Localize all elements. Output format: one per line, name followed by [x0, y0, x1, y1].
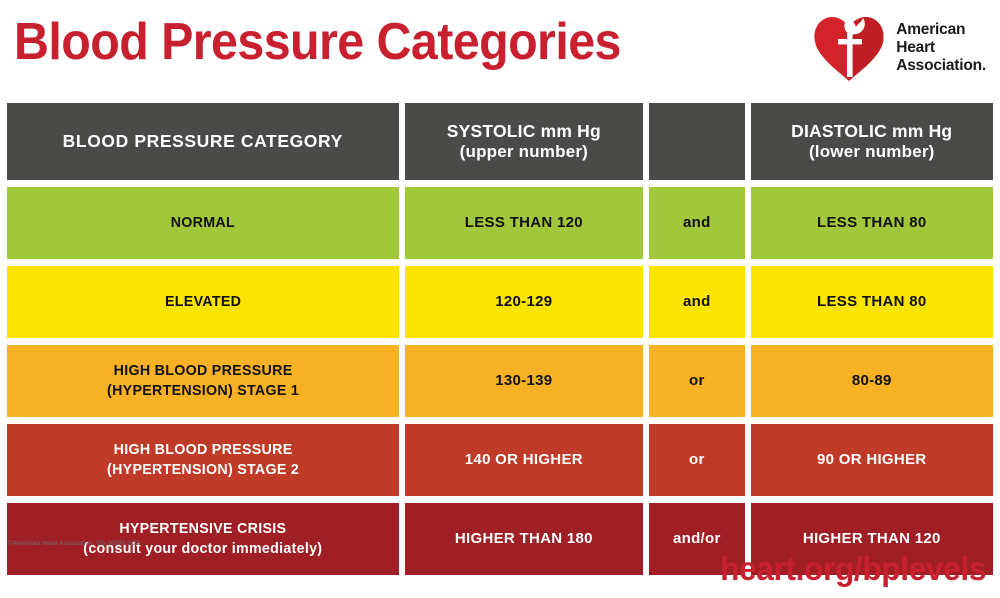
logo-wordmark-line-3: Association. — [896, 57, 986, 75]
category-cell-stage-2: HIGH BLOOD PRESSURE (HYPERTENSION) STAGE… — [7, 424, 399, 496]
column-header-systolic-label: SYSTOLIC mm Hg — [447, 121, 601, 142]
category-line-2: (HYPERTENSION) STAGE 1 — [107, 381, 299, 401]
column-header-systolic-sublabel: (upper number) — [447, 142, 601, 162]
category-line-1: NORMAL — [171, 214, 235, 232]
table-row-elevated: ELEVATED 120-129 and LESS THAN 80 — [7, 266, 993, 338]
table-row-normal: NORMAL LESS THAN 120 and LESS THAN 80 — [7, 187, 993, 259]
column-header-diastolic-label: DIASTOLIC mm Hg — [791, 121, 952, 142]
category-cell-crisis: HYPERTENSIVE CRISIS (consult your doctor… — [7, 503, 399, 575]
category-line-2: (HYPERTENSION) STAGE 2 — [107, 460, 299, 480]
category-line-1: HIGH BLOOD PRESSURE — [107, 361, 299, 381]
table-row-stage-1: HIGH BLOOD PRESSURE (HYPERTENSION) STAGE… — [7, 345, 993, 417]
category-cell-normal: NORMAL — [7, 187, 399, 259]
category-line-1: HYPERTENSIVE CRISIS — [83, 519, 322, 539]
american-heart-association-logo: American Heart Association. — [812, 10, 986, 86]
category-cell-stage-1: HIGH BLOOD PRESSURE (HYPERTENSION) STAGE… — [7, 345, 399, 417]
conjunction-cell-stage-2: or — [649, 424, 744, 496]
logo-wordmark: American Heart Association. — [896, 21, 986, 75]
heart-torch-icon — [812, 13, 886, 83]
category-line-1: ELEVATED — [165, 293, 241, 311]
logo-wordmark-line-2: Heart — [896, 39, 986, 57]
conjunction-cell-normal: and — [649, 187, 744, 259]
column-header-conjunction — [649, 103, 744, 180]
systolic-cell-elevated: 120-129 — [405, 266, 644, 338]
column-header-diastolic: DIASTOLIC mm Hg (lower number) — [751, 103, 994, 180]
diastolic-cell-normal: LESS THAN 80 — [751, 187, 994, 259]
logo-wordmark-line-1: American — [896, 21, 986, 39]
blood-pressure-categories-infographic: Blood Pressure Categories American Heart… — [0, 0, 1000, 598]
header-bar: Blood Pressure Categories American Heart… — [0, 0, 1000, 103]
blood-pressure-table: BLOOD PRESSURE CATEGORY SYSTOLIC mm Hg (… — [7, 103, 993, 582]
category-line-1: HIGH BLOOD PRESSURE — [107, 440, 299, 460]
table-header-row: BLOOD PRESSURE CATEGORY SYSTOLIC mm Hg (… — [7, 103, 993, 180]
diastolic-cell-stage-2: 90 OR HIGHER — [751, 424, 994, 496]
systolic-cell-stage-2: 140 OR HIGHER — [405, 424, 644, 496]
conjunction-cell-elevated: and — [649, 266, 744, 338]
systolic-cell-crisis: HIGHER THAN 180 — [405, 503, 644, 575]
column-header-systolic: SYSTOLIC mm Hg (upper number) — [405, 103, 644, 180]
conjunction-cell-stage-1: or — [649, 345, 744, 417]
table-row-stage-2: HIGH BLOOD PRESSURE (HYPERTENSION) STAGE… — [7, 424, 993, 496]
column-header-category: BLOOD PRESSURE CATEGORY — [7, 103, 399, 180]
website-url-link[interactable]: heart.org/bplevels — [720, 552, 986, 585]
page-title: Blood Pressure Categories — [14, 16, 621, 68]
category-cell-elevated: ELEVATED — [7, 266, 399, 338]
systolic-cell-normal: LESS THAN 120 — [405, 187, 644, 259]
column-header-diastolic-sublabel: (lower number) — [791, 142, 952, 162]
diastolic-cell-stage-1: 80-89 — [751, 345, 994, 417]
diastolic-cell-elevated: LESS THAN 80 — [751, 266, 994, 338]
copyright-notice: ©American Heart Association. DS-16580 8/… — [8, 540, 140, 547]
systolic-cell-stage-1: 130-139 — [405, 345, 644, 417]
